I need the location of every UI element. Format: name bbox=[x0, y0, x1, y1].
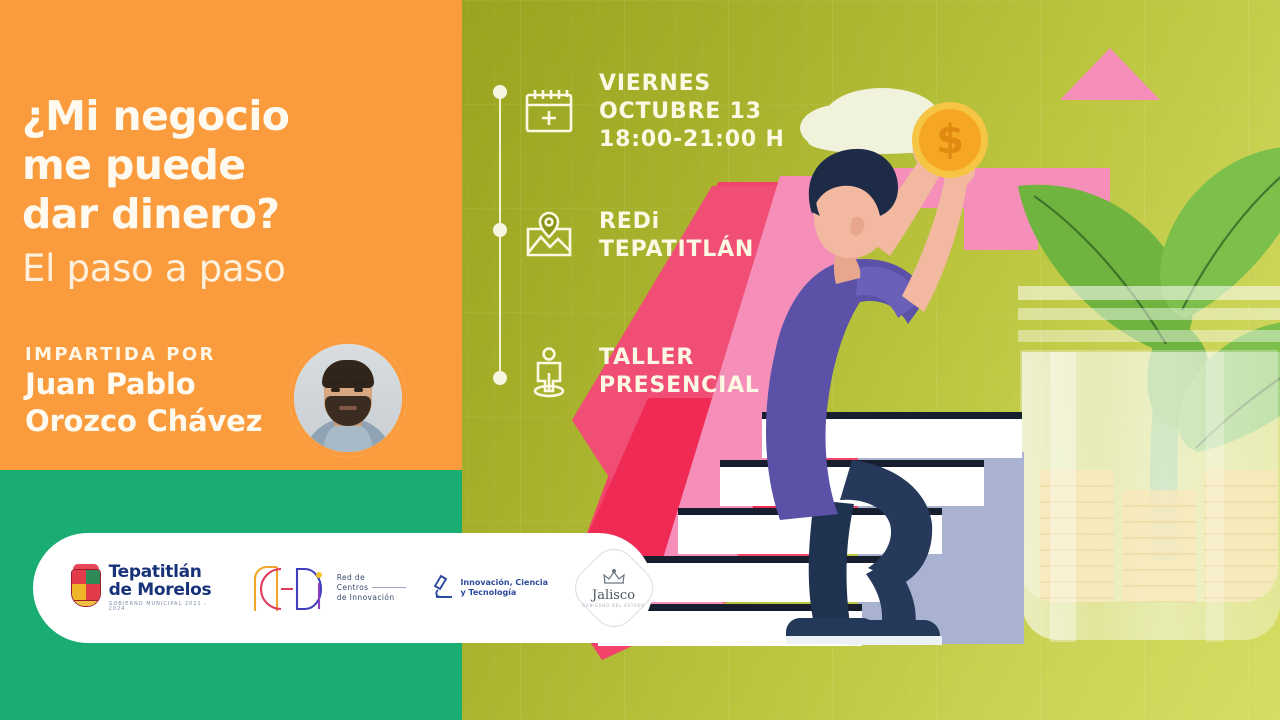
gold-dollar-coin: $ bbox=[912, 102, 988, 178]
ict-line-2: y Tecnología bbox=[460, 588, 548, 598]
title-line-3: dar dinero? bbox=[22, 190, 442, 239]
title-block: ¿Mi negocio me puede dar dinero? El paso… bbox=[22, 92, 442, 293]
jalisco-name: Jalisco bbox=[592, 588, 635, 603]
redi-wordmark-icon bbox=[251, 561, 329, 615]
tepatitlan-coat-of-arms-icon bbox=[71, 569, 101, 607]
title-line-2: me puede bbox=[22, 141, 442, 190]
jalisco-crown-icon bbox=[601, 569, 627, 587]
glass-jar bbox=[1018, 286, 1280, 646]
timeline-dot-2 bbox=[493, 223, 507, 237]
timeline bbox=[493, 85, 507, 385]
tepatitlan-name-2: de Morelos bbox=[109, 582, 225, 600]
microscope-icon bbox=[432, 573, 454, 604]
detail-modality-line-2: PRESENCIAL bbox=[599, 372, 760, 400]
detail-modality-text: TALLER PRESENCIAL bbox=[599, 344, 760, 400]
title-line-1: ¿Mi negocio bbox=[22, 92, 442, 141]
detail-place: REDi TEPATITLÁN bbox=[522, 208, 754, 264]
event-poster: $ ¿Mi negocio me puede dar dinero? El pa… bbox=[0, 0, 1280, 720]
jalisco-sub: GOBIERNO DEL ESTADO bbox=[582, 603, 645, 608]
avatar bbox=[289, 339, 407, 457]
logo-jalisco: Jalisco GOBIERNO DEL ESTADO bbox=[574, 548, 653, 628]
detail-date: VIERNES OCTUBRE 13 18:00-21:00 H bbox=[522, 70, 785, 154]
detail-place-text: REDi TEPATITLÁN bbox=[599, 208, 754, 264]
logo-bar: Tepatitlán de Morelos GOBIERNO MUNICIPAL… bbox=[33, 533, 653, 643]
calendar-plus-icon bbox=[522, 85, 576, 139]
detail-modality: TALLER PRESENCIAL bbox=[522, 344, 760, 400]
timeline-dot-1 bbox=[493, 85, 507, 99]
redi-line-2: Centros bbox=[337, 583, 369, 592]
logo-ict: Innovación, Ciencia y Tecnología bbox=[432, 573, 548, 604]
avatar-photo bbox=[294, 344, 402, 452]
timeline-dot-3 bbox=[493, 371, 507, 385]
detail-place-line-2: TEPATITLÁN bbox=[599, 236, 754, 264]
logo-redi: Red de Centros de Innovación bbox=[251, 561, 407, 615]
detail-date-line-2: OCTUBRE 13 bbox=[599, 98, 785, 126]
detail-date-line-3: 18:00-21:00 H bbox=[599, 126, 785, 154]
tepatitlan-sub: GOBIERNO MUNICIPAL 2021 - 2024 bbox=[109, 602, 225, 613]
svg-text:$: $ bbox=[936, 117, 964, 163]
detail-modality-line-1: TALLER bbox=[599, 344, 760, 372]
logo-tepatitlan: Tepatitlán de Morelos GOBIERNO MUNICIPAL… bbox=[71, 564, 225, 612]
redi-line-1: Red de bbox=[337, 573, 407, 583]
ict-line-1: Innovación, Ciencia bbox=[460, 578, 548, 588]
detail-place-line-1: REDi bbox=[599, 208, 754, 236]
standing-person-icon bbox=[522, 345, 576, 399]
redi-line-3: de Innovación bbox=[337, 593, 407, 603]
subtitle: El paso a paso bbox=[22, 245, 442, 293]
map-pin-icon bbox=[522, 209, 576, 263]
detail-date-text: VIERNES OCTUBRE 13 18:00-21:00 H bbox=[599, 70, 785, 154]
detail-date-line-1: VIERNES bbox=[599, 70, 785, 98]
